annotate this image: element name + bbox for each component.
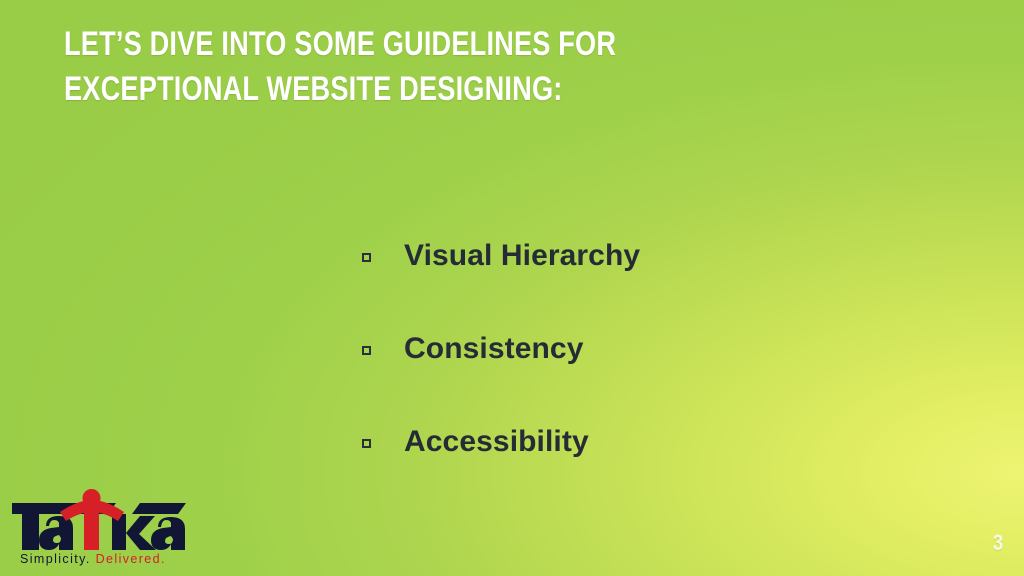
hollow-square-bullet-icon	[362, 439, 371, 448]
logo-mark-icon	[8, 486, 194, 552]
list-item-label: Visual Hierarchy	[404, 236, 640, 276]
slide-canvas: Let’s dive into some guidelines for exce…	[0, 0, 1024, 576]
list-item: Consistency	[362, 329, 882, 422]
logo-tagline-accent: Delivered.	[96, 552, 166, 566]
logo-tagline: Simplicity. Delivered.	[20, 552, 166, 566]
hollow-square-bullet-icon	[362, 253, 371, 262]
company-logo: Simplicity. Delivered.	[8, 486, 194, 568]
hollow-square-bullet-icon	[362, 346, 371, 355]
list-item-label: Accessibility	[404, 422, 589, 462]
page-title: Let’s dive into some guidelines for exce…	[64, 22, 728, 112]
logo-tagline-primary: Simplicity.	[20, 552, 91, 566]
list-item: Accessibility	[362, 422, 882, 515]
list-item-label: Consistency	[404, 329, 584, 369]
guidelines-list: Visual Hierarchy Consistency Accessibili…	[362, 236, 882, 515]
list-item: Visual Hierarchy	[362, 236, 882, 329]
page-number: 3	[993, 532, 1003, 554]
